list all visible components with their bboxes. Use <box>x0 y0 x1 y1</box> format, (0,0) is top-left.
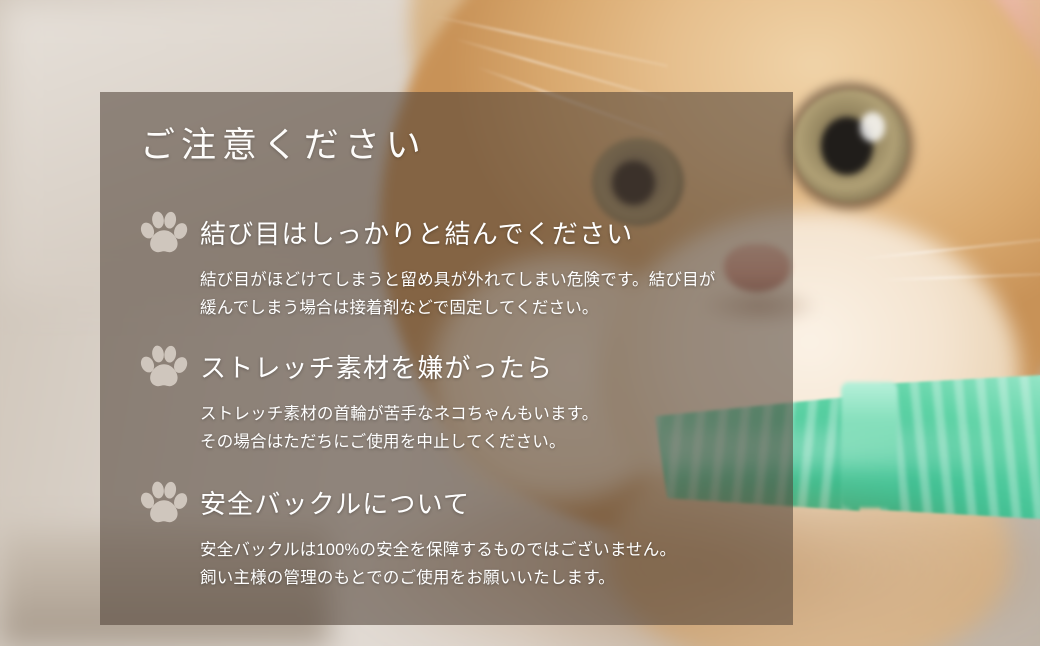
notice-section-3-header: 安全バックルについて <box>138 480 676 528</box>
notice-section-1: 結び目はしっかりと結んでください 結び目がほどけてしまうと留め具が外れてしまい危… <box>138 210 716 323</box>
paw-print-icon <box>138 344 188 392</box>
notice-section-3-title: 安全バックルについて <box>200 490 470 519</box>
notice-section-2-body: ストレッチ素材の首輪が苦手なネコちゃんもいます。 その場合はただちにご使用を中止… <box>200 400 598 457</box>
notice-section-1-title: 結び目はしっかりと結んでください <box>200 220 633 249</box>
notice-section-1-body-line: 緩んでしまう場合は接着剤などで固定してください。 <box>200 294 716 322</box>
notice-section-1-header: 結び目はしっかりと結んでください <box>138 210 716 258</box>
notice-section-1-body: 結び目がほどけてしまうと留め具が外れてしまい危険です。結び目が 緩んでしまう場合… <box>200 266 716 323</box>
notice-section-2-body-line: その場合はただちにご使用を中止してください。 <box>200 428 598 456</box>
paw-print-icon <box>138 480 188 528</box>
page-title: ご注意ください <box>140 128 427 163</box>
notice-section-3-body-line: 飼い主様の管理のもとでのご使用をお願いいたします。 <box>200 564 676 592</box>
banner-stage: ご注意ください <box>0 0 1040 646</box>
paw-print-icon <box>138 210 188 258</box>
notice-section-2-header: ストレッチ素材を嫌がったら <box>138 344 598 392</box>
notice-section-1-body-line: 結び目がほどけてしまうと留め具が外れてしまい危険です。結び目が <box>200 266 716 294</box>
notice-section-3-body-line: 安全バックルは100%の安全を保障するものではございません。 <box>200 536 676 564</box>
notice-section-3-body: 安全バックルは100%の安全を保障するものではございません。 飼い主様の管理のも… <box>200 536 676 593</box>
notice-section-2: ストレッチ素材を嫌がったら ストレッチ素材の首輪が苦手なネコちゃんもいます。 そ… <box>138 344 598 457</box>
notice-section-3: 安全バックルについて 安全バックルは100%の安全を保障するものではございません… <box>138 480 676 593</box>
notice-panel-content: ご注意ください <box>100 92 793 625</box>
notice-section-2-body-line: ストレッチ素材の首輪が苦手なネコちゃんもいます。 <box>200 400 598 428</box>
notice-overlay-panel: ご注意ください <box>100 92 793 625</box>
notice-section-2-title: ストレッチ素材を嫌がったら <box>200 354 553 383</box>
